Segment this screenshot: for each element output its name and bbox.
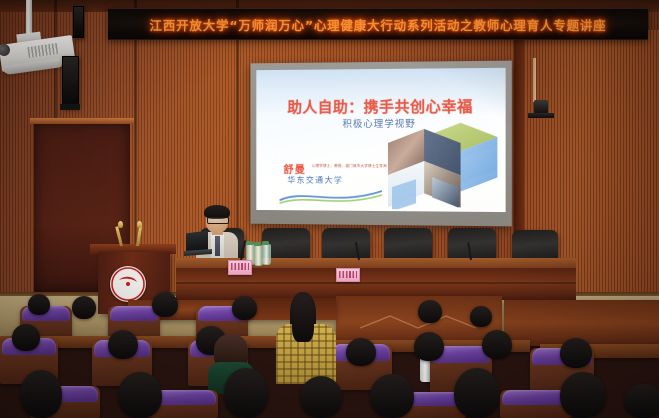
audience-person-head (418, 300, 442, 323)
wall-speaker-foot (60, 104, 80, 110)
standing-person-hair (292, 296, 314, 342)
presenter-glasses-icon (207, 217, 229, 224)
audience-person-head (72, 296, 96, 319)
audience-person-head (300, 376, 342, 418)
bottle-cap (246, 241, 253, 245)
name-card (336, 268, 360, 282)
wall-speaker-left (62, 56, 79, 108)
audience-person-head (346, 338, 376, 366)
podium-microphone-head-icon (137, 221, 142, 228)
podium-microphone-head-icon (118, 221, 123, 228)
name-card-text (231, 263, 249, 270)
table-trim-line (176, 282, 576, 284)
audience-person-head (482, 330, 512, 359)
banner-text: 江西开放大学“万师润万心”心理健康大行动系列活动之教师心理育人专题讲座 (150, 15, 607, 34)
wall-camera-icon (534, 100, 548, 114)
name-card (228, 260, 252, 275)
name-card-text (339, 271, 357, 278)
bottle-cap (254, 242, 261, 246)
audience-person-head (108, 330, 138, 359)
presenter-tie (215, 236, 220, 256)
bottle-cap (262, 241, 269, 245)
audience-person-head (454, 368, 500, 418)
seat-cushion (110, 306, 158, 321)
audience-person-head (560, 338, 592, 368)
university-crest-icon (110, 266, 146, 302)
presentation-slide: 助人自助：携手共创心幸福 积极心理学视野 (256, 68, 505, 212)
wall-ledge (30, 118, 134, 124)
lecture-hall-screenshot: 江西开放大学“万师润万心”心理健康大行动系列活动之教师心理育人专题讲座 助人自助… (0, 0, 659, 418)
camera-conduit (533, 58, 536, 102)
audience-person-head (20, 370, 62, 418)
audience-person-head (152, 292, 178, 317)
audience-person-head (470, 306, 492, 327)
audience-person-head (414, 332, 444, 361)
camera-bracket (528, 113, 554, 118)
audience-person-head (28, 294, 50, 315)
slide-cube-graphic (372, 117, 501, 210)
projector-mount-pole (26, 0, 32, 36)
audience-person-head (624, 384, 659, 418)
projection-screen: 助人自助：携手共创心幸福 积极心理学视野 (251, 61, 512, 227)
audience-person-head (118, 372, 162, 418)
audience-person-head (232, 296, 257, 320)
wall-speaker-upper (73, 6, 84, 38)
slide-title: 助人自助：携手共创心幸福 (256, 95, 505, 117)
audience-person-head (12, 324, 40, 351)
audience-person-head (560, 372, 606, 418)
slide-swoosh-decoration (278, 184, 386, 207)
slide-speaker-credentials: 心理学博士、教授、澳门城市大学博士生导师 (312, 165, 403, 169)
water-bottle (262, 244, 271, 265)
audience-person-head (224, 368, 268, 418)
led-banner: 江西开放大学“万师润万心”心理健康大行动系列活动之教师心理育人专题讲座 (108, 8, 648, 40)
audience-person-head (370, 374, 414, 418)
